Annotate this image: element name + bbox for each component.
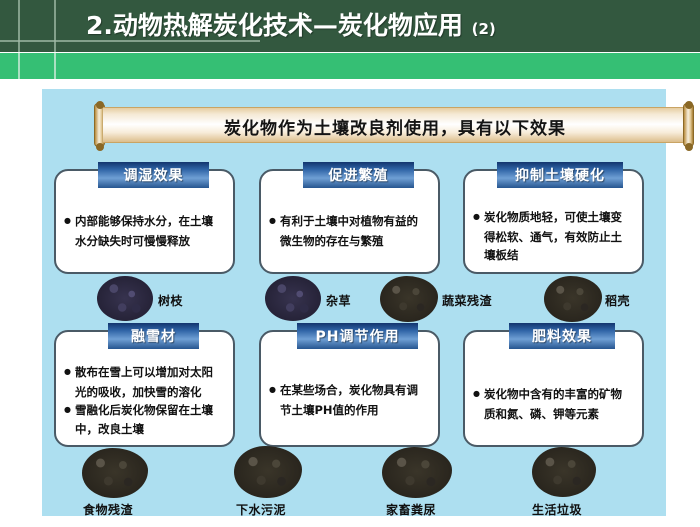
page-title: 2.动物热解炭化技术—炭化物应用 (2) [86, 6, 496, 42]
header-grid-line-v1 [18, 0, 20, 52]
effect-card-humidity[interactable]: 调湿效果 内部能够保持水分，在土壤 水分缺失时可慢慢释放 [54, 169, 235, 274]
charcoal-sample-sewage-sludge-icon [234, 446, 302, 498]
charcoal-sample-label-weeds: 杂草 [326, 292, 351, 309]
effect-line: 散布在雪上可以增加对太阳 [64, 364, 225, 382]
effect-line: 得松软、通气，有效防止土 [473, 229, 634, 247]
effect-card-humidity-title: 调湿效果 [98, 162, 209, 188]
roller-knob-bottom-right-icon [685, 143, 693, 151]
effect-card-snow-melting-body: 散布在雪上可以增加对太阳 光的吸收，加快雪的溶化 雪融化后炭化物保留在土壤 中，… [56, 358, 233, 443]
header-grid-line-v2 [54, 0, 56, 52]
effect-card-ph-adjustment-body: 在某些场合，炭化物具有调 节土壤PH值的作用 [261, 376, 438, 424]
charcoal-sample-rice-husk-icon [544, 276, 602, 322]
charcoal-sample-weeds-icon [265, 276, 321, 321]
effect-card-fertilizer-body: 炭化物中含有的丰富的矿物 质和氮、磷、钾等元素 [465, 380, 642, 428]
charcoal-sample-label-food-waste: 食物残渣 [83, 501, 133, 518]
scroll-banner: 炭化物作为土壤改良剂使用，具有以下效果 [94, 103, 694, 147]
charcoal-sample-vegetable-residue-icon [380, 276, 438, 322]
charcoal-sample-label-household-waste: 生活垃圾 [532, 501, 582, 518]
charcoal-sample-branches-icon [97, 276, 153, 321]
slide-header-accent-band [0, 53, 700, 79]
roller-knob-bottom-left-icon [96, 143, 104, 151]
slide-content-panel: 炭化物作为土壤改良剂使用，具有以下效果 调湿效果 内部能够保持水分，在土壤 水分… [42, 89, 666, 516]
scroll-banner-body: 炭化物作为土壤改良剂使用，具有以下效果 [103, 107, 687, 143]
slide-header-band: 2.动物热解炭化技术—炭化物应用 (2) [0, 0, 700, 52]
effect-card-propagation-body: 有利于土壤中对植物有益的 微生物的存在与繁殖 [261, 207, 438, 255]
effect-line: 雪融化后炭化物保留在土壤 [64, 402, 225, 420]
scroll-roller-right-icon [683, 103, 694, 147]
effect-line: 水分缺失时可慢慢释放 [64, 233, 225, 251]
effect-card-humidity-body: 内部能够保持水分，在土壤 水分缺失时可慢慢释放 [56, 207, 233, 255]
effect-card-propagation[interactable]: 促进繁殖 有利于土壤中对植物有益的 微生物的存在与繁殖 [259, 169, 440, 274]
effect-card-snow-melting[interactable]: 融雪材 散布在雪上可以增加对太阳 光的吸收，加快雪的溶化 雪融化后炭化物保留在土… [54, 330, 235, 447]
effect-card-propagation-title: 促进繁殖 [303, 162, 414, 188]
effect-line: 光的吸收，加快雪的溶化 [64, 384, 225, 402]
effect-line: 炭化物质地轻，可使土壤变 [473, 209, 634, 227]
effect-line: 壤板结 [473, 247, 634, 265]
effect-line: 在某些场合，炭化物具有调 [269, 382, 430, 400]
effect-line: 有利于土壤中对植物有益的 [269, 213, 430, 231]
page-title-suffix: (2) [472, 20, 496, 38]
page-title-main: 2.动物热解炭化技术—炭化物应用 [86, 11, 463, 40]
charcoal-sample-label-livestock-manure: 家畜粪尿 [386, 501, 436, 518]
effect-line: 节土壤PH值的作用 [269, 402, 430, 420]
effect-card-fertilizer[interactable]: 肥料效果 炭化物中含有的丰富的矿物 质和氮、磷、钾等元素 [463, 330, 644, 447]
effect-line: 炭化物中含有的丰富的矿物 [473, 386, 634, 404]
effect-line: 中，改良土壤 [64, 421, 225, 439]
roller-knob-top-right-icon [685, 101, 693, 109]
effect-card-fertilizer-title: 肥料效果 [509, 323, 615, 349]
effect-card-anti-hardening-body: 炭化物质地轻，可使土壤变 得松软、通气，有效防止土 壤板结 [465, 203, 642, 268]
accent-grid-line-v1 [18, 53, 20, 79]
scroll-banner-title: 炭化物作为土壤改良剂使用，具有以下效果 [103, 108, 687, 144]
accent-grid-line-v2 [54, 53, 56, 79]
effect-line: 质和氮、磷、钾等元素 [473, 406, 634, 424]
charcoal-sample-label-vegetable-residue: 蔬菜残渣 [442, 292, 492, 309]
effect-card-snow-melting-title: 融雪材 [108, 323, 199, 349]
effect-card-anti-hardening-title: 抑制土壤硬化 [497, 162, 623, 188]
charcoal-sample-food-waste-icon [82, 448, 148, 498]
charcoal-sample-label-sewage-sludge: 下水污泥 [236, 501, 286, 518]
effect-line: 微生物的存在与繁殖 [269, 233, 430, 251]
charcoal-sample-livestock-manure-icon [382, 447, 452, 498]
effect-card-ph-adjustment[interactable]: PH调节作用 在某些场合，炭化物具有调 节土壤PH值的作用 [259, 330, 440, 447]
effect-line: 内部能够保持水分，在土壤 [64, 213, 225, 231]
charcoal-sample-label-rice-husk: 稻壳 [605, 292, 630, 309]
charcoal-sample-label-branches: 树枝 [158, 292, 183, 309]
effect-card-anti-hardening[interactable]: 抑制土壤硬化 炭化物质地轻，可使土壤变 得松软、通气，有效防止土 壤板结 [463, 169, 644, 274]
effect-card-ph-adjustment-title: PH调节作用 [297, 323, 418, 349]
charcoal-sample-household-waste-icon [532, 447, 596, 497]
